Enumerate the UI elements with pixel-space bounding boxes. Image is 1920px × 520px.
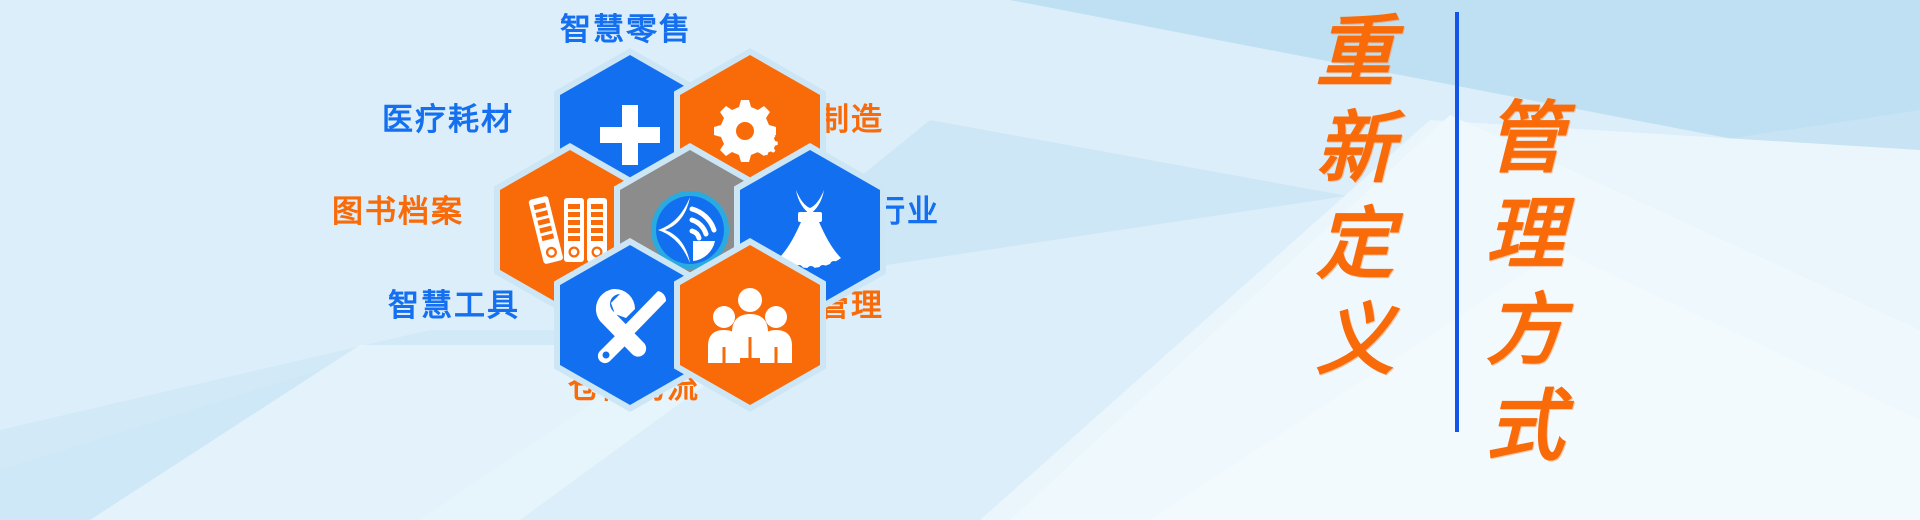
slogan-char: 式 bbox=[1486, 388, 1564, 466]
slogan-char: 重 bbox=[1316, 14, 1394, 92]
medical-cross-icon bbox=[594, 99, 666, 171]
promo-banner: 智慧零售 医疗耗材 智能制造 图书档案 服装行业 智慧工具 人员管理 仓储物流 bbox=[0, 0, 1920, 520]
slogan-char: 新 bbox=[1316, 110, 1394, 188]
label-book-archive: 图书档案 bbox=[332, 196, 464, 227]
slogan-char: 管 bbox=[1486, 100, 1564, 178]
slogan-char: 理 bbox=[1486, 196, 1564, 274]
label-medical-supplies: 医疗耗材 bbox=[382, 104, 514, 135]
slogan-column-right: 管 理 方 式 bbox=[1470, 0, 1580, 520]
wrench-screwdriver-icon bbox=[588, 283, 672, 367]
slogan-divider bbox=[1455, 12, 1459, 432]
gears-icon bbox=[711, 98, 789, 172]
slogan-char: 方 bbox=[1486, 292, 1564, 370]
hexagon-cluster bbox=[560, 55, 920, 405]
label-smart-tools: 智慧工具 bbox=[388, 290, 520, 321]
people-group-icon bbox=[707, 287, 793, 363]
slogan-block: 重 新 定 义 管 理 方 式 bbox=[1300, 0, 1640, 520]
slogan-column-left: 重 新 定 义 bbox=[1300, 0, 1410, 520]
slogan-char: 定 bbox=[1316, 206, 1394, 284]
slogan-char: 义 bbox=[1316, 302, 1394, 380]
label-smart-retail: 智慧零售 bbox=[560, 14, 692, 45]
